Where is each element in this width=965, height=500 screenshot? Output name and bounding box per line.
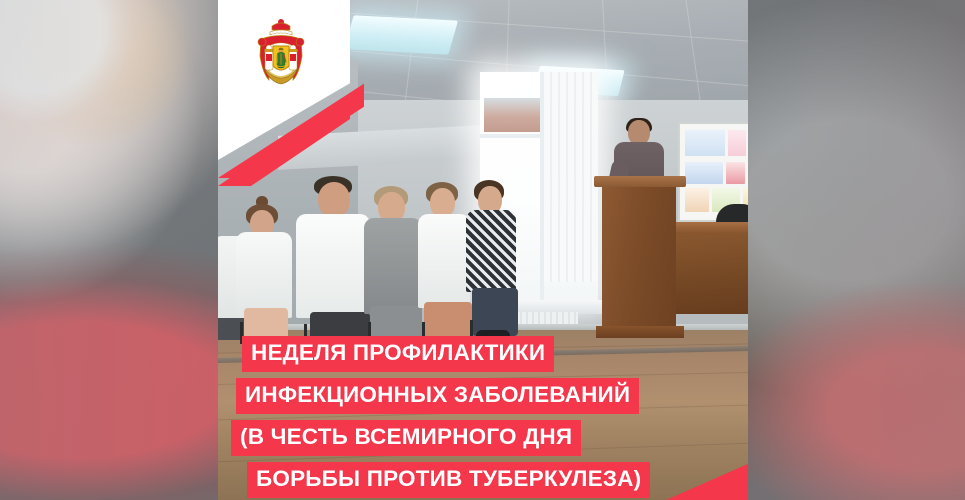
podium-top <box>594 176 686 187</box>
caption-line-3: (В ЧЕСТЬ ВСЕМИРНОГО ДНЯ <box>231 420 581 456</box>
caption-line-4: БОРЬБЫ ПРОТИВ ТУБЕРКУЛЕЗА) <box>247 462 650 498</box>
window-view-outside <box>484 98 540 132</box>
ryazan-oblast-coat-of-arms-icon <box>252 16 310 90</box>
ceiling-light <box>344 15 458 55</box>
social-media-poster: НЕДЕЛЯ ПРОФИЛАКТИКИ ИНФЕКЦИОННЫХ ЗАБОЛЕВ… <box>0 0 965 500</box>
caption-line-2: ИНФЕКЦИОННЫХ ЗАБОЛЕВАНИЙ <box>236 378 639 414</box>
caption-block: НЕДЕЛЯ ПРОФИЛАКТИКИ ИНФЕКЦИОННЫХ ЗАБОЛЕВ… <box>231 336 751 500</box>
podium <box>602 182 676 334</box>
window-blinds <box>544 72 598 282</box>
caption-line-1: НЕДЕЛЯ ПРОФИЛАКТИКИ <box>242 336 554 372</box>
